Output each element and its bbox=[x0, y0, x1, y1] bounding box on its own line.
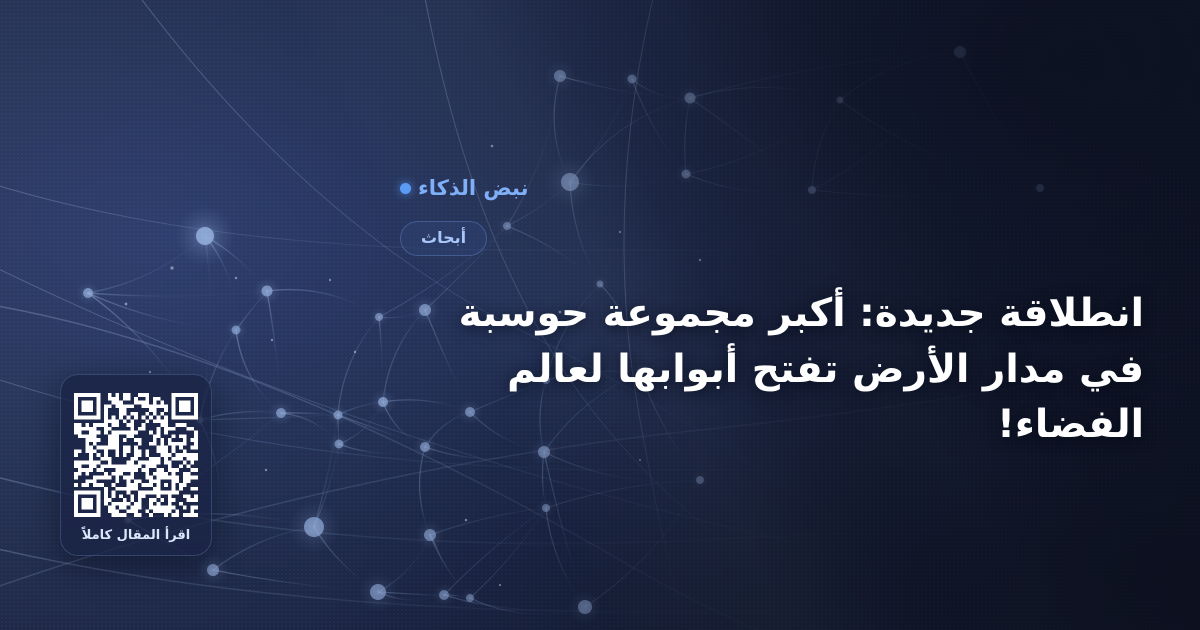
qr-card[interactable]: اقرأ المقال كاملاً bbox=[60, 374, 212, 556]
brand-dot-icon bbox=[400, 183, 411, 194]
brand-name: نبض الذكاء bbox=[418, 178, 528, 199]
qr-code-icon[interactable] bbox=[69, 393, 203, 517]
brand: نبض الذكاء bbox=[400, 178, 528, 199]
headline: انطلاقة جديدة: أكبر مجموعة حوسبة في مدار… bbox=[400, 286, 1144, 452]
category-badge[interactable]: أبحاث bbox=[400, 221, 487, 257]
content-column: نبض الذكاء أبحاث انطلاقة جديدة: أكبر مجم… bbox=[400, 0, 1200, 630]
og-image-card: اقرأ المقال كاملاً نبض الذكاء أبحاث انطل… bbox=[0, 0, 1200, 630]
qr-caption: اقرأ المقال كاملاً bbox=[82, 529, 191, 542]
